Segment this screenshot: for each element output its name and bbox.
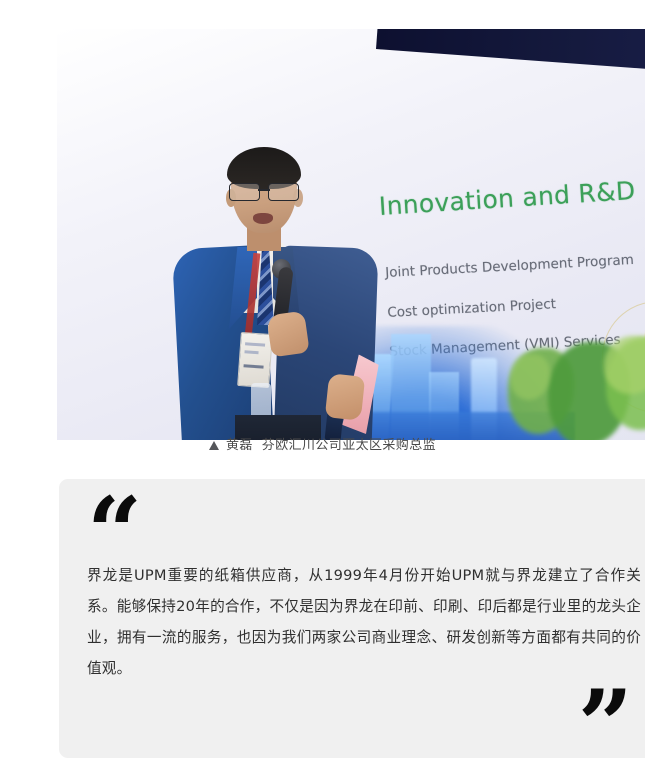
eyeglass-bridge: [258, 189, 270, 191]
mouth: [253, 213, 273, 224]
auditorium-ceiling-band: [376, 29, 645, 76]
photo-caption: 黄磊芬欧汇川公司亚太区采购总监: [0, 434, 645, 453]
eyeglasses: [229, 183, 299, 200]
hand-holding-microphone: [266, 311, 309, 358]
projection-screen: Innovation and R&D Joint Products Develo…: [57, 29, 645, 440]
speaker-photo: Innovation and R&D Joint Products Develo…: [57, 29, 645, 440]
caption-person-name: 黄磊: [226, 438, 253, 453]
quote-close-mark: ”: [578, 678, 634, 774]
slide-heading: Innovation and R&D: [378, 176, 636, 221]
eyeglass-lens-left: [229, 183, 260, 201]
slide-bullet: Joint Products Development Program: [385, 252, 645, 280]
caption-person-title: 芬欧汇川公司亚太区采购总监: [262, 438, 436, 453]
badge-text-line: [244, 350, 258, 354]
slide-foliage-graphic: [485, 320, 645, 440]
triangle-up-icon: [209, 441, 219, 450]
badge-text-line: [245, 342, 265, 346]
conference-badge: [237, 332, 273, 388]
quote-body-text: 界龙是UPM重要的纸箱供应商，从1999年4月份开始UPM就与界龙建立了合作关系…: [87, 560, 641, 684]
hand-holding-notes: [325, 373, 365, 421]
pull-quote-card: “ 界龙是UPM重要的纸箱供应商，从1999年4月份开始UPM就与界龙建立了合作…: [59, 479, 645, 758]
eyeglass-lens-right: [268, 183, 299, 201]
speaker-figure: [177, 147, 387, 440]
badge-text-line: [243, 364, 263, 368]
